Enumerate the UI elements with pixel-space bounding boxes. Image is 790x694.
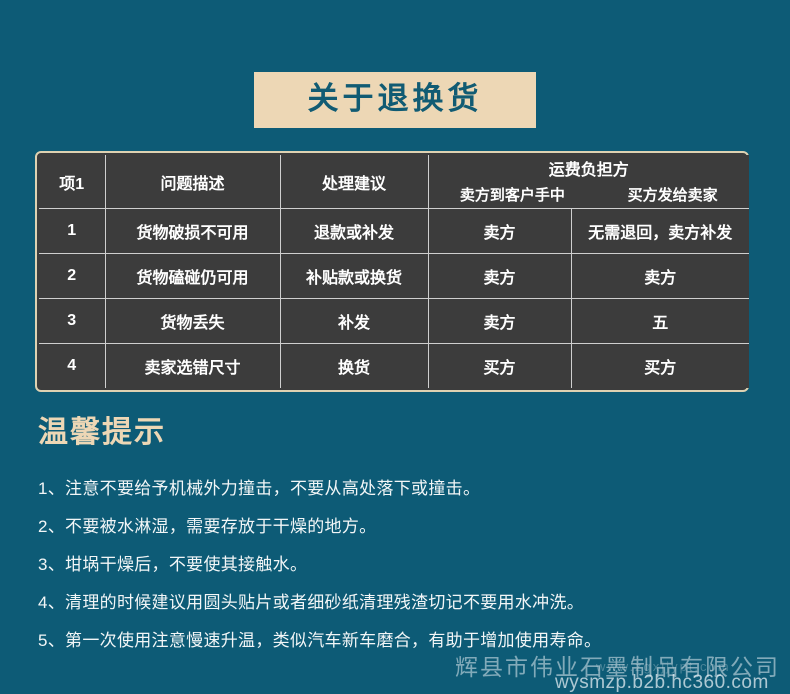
cell-index: 2 [39, 254, 105, 299]
table-header-row: 项1 问题描述 处理建议 运费负担方 卖方到客户手中 买方发给卖家 [39, 155, 749, 209]
cell-suggestion: 补发 [280, 299, 428, 344]
cell-description: 货物破损不可用 [105, 209, 280, 254]
returns-policy-table-container: 项1 问题描述 处理建议 运费负担方 卖方到客户手中 买方发给卖家 1 货物破损… [35, 151, 749, 392]
cell-ship-to-customer: 卖方 [428, 299, 571, 344]
shipping-group-label: 运费负担方 [429, 158, 750, 184]
list-item: 1、注意不要给予机械外力撞击，不要从高处落下或撞击。 [38, 470, 768, 508]
page-title: 关于退换货 [300, 81, 490, 117]
cell-description: 货物磕碰仍可用 [105, 254, 280, 299]
cell-index: 4 [39, 344, 105, 389]
cell-ship-to-customer: 买方 [428, 344, 571, 389]
cell-ship-to-seller: 买方 [571, 344, 749, 389]
cell-suggestion: 退款或补发 [280, 209, 428, 254]
cell-ship-to-seller: 五 [571, 299, 749, 344]
column-header-description: 问题描述 [105, 155, 280, 209]
cell-description: 卖家选错尺寸 [105, 344, 280, 389]
column-header-index: 项1 [39, 155, 105, 209]
table-row: 3 货物丢失 补发 卖方 五 [39, 299, 749, 344]
shipping-sub-header-to-seller: 买方发给卖家 [628, 184, 718, 208]
column-header-shipping-group: 运费负担方 卖方到客户手中 买方发给卖家 [428, 155, 749, 209]
shipping-sub-header-to-customer: 卖方到客户手中 [460, 184, 565, 208]
list-item: 4、清理的时候建议用圆头贴片或者细砂纸清理残渣切记不要用水冲洗。 [38, 584, 768, 622]
title-box: 关于退换货 [254, 72, 536, 128]
cell-ship-to-seller: 卖方 [571, 254, 749, 299]
tips-heading: 温馨提示 [38, 407, 166, 451]
cell-ship-to-customer: 卖方 [428, 209, 571, 254]
table-row: 4 卖家选错尺寸 换货 买方 买方 [39, 344, 749, 389]
table-row: 2 货物磕碰仍可用 补贴款或换货 卖方 卖方 [39, 254, 749, 299]
page-title-banner: 关于退换货 [0, 72, 790, 128]
list-item: 3、坩埚干燥后，不要使其接触水。 [38, 546, 768, 584]
returns-policy-table: 项1 问题描述 处理建议 运费负担方 卖方到客户手中 买方发给卖家 1 货物破损… [39, 155, 749, 388]
cell-index: 1 [39, 209, 105, 254]
tips-list: 1、注意不要给予机械外力撞击，不要从高处落下或撞击。 2、不要被水淋湿，需要存放… [38, 470, 768, 660]
cell-suggestion: 补贴款或换货 [280, 254, 428, 299]
list-item: 2、不要被水淋湿，需要存放于干燥的地方。 [38, 508, 768, 546]
cell-ship-to-customer: 卖方 [428, 254, 571, 299]
cell-suggestion: 换货 [280, 344, 428, 389]
cell-index: 3 [39, 299, 105, 344]
cell-description: 货物丢失 [105, 299, 280, 344]
table-row: 1 货物破损不可用 退款或补发 卖方 无需退回，卖方补发 [39, 209, 749, 254]
column-header-suggestion: 处理建议 [280, 155, 428, 209]
cell-ship-to-seller: 无需退回，卖方补发 [571, 209, 749, 254]
